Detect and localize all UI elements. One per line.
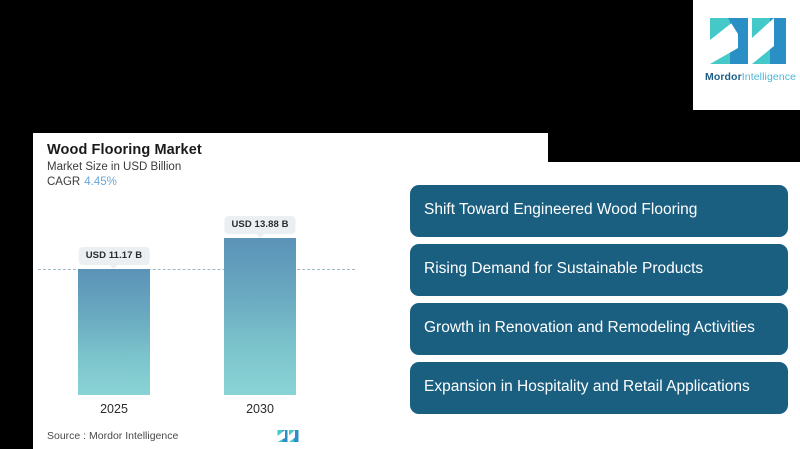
driver-item-3[interactable]: Growth in Renovation and Remodeling Acti… — [410, 303, 788, 355]
bar-value-label-2030: USD 13.88 B — [224, 216, 295, 234]
driver-item-1[interactable]: Shift Toward Engineered Wood Flooring — [410, 185, 788, 237]
driver-label: Shift Toward Engineered Wood Flooring — [424, 200, 697, 220]
mordor-intelligence-mark-icon — [277, 429, 299, 443]
brand-name-part1: Mordor — [705, 71, 742, 83]
bar-value-label-2025: USD 11.17 B — [79, 247, 150, 265]
bar-chart-plot: USD 11.17 B 2025 USD 13.88 B 2030 — [33, 195, 373, 449]
source-name: Mordor Intelligence — [89, 430, 178, 442]
cagr-row: CAGR4.45% — [47, 176, 117, 188]
source-attribution: Source : Mordor Intelligence — [47, 430, 178, 442]
driver-label: Rising Demand for Sustainable Products — [424, 259, 703, 279]
brand-name-part2: Intelligence — [742, 71, 796, 83]
driver-label: Growth in Renovation and Remodeling Acti… — [424, 318, 755, 338]
driver-item-2[interactable]: Rising Demand for Sustainable Products — [410, 244, 788, 296]
brand-logo-text: MordorIntelligence — [705, 71, 791, 83]
bar-2030 — [224, 238, 296, 395]
chart-subtitle: Market Size in USD Billion — [47, 161, 181, 173]
driver-item-4[interactable]: Expansion in Hospitality and Retail Appl… — [410, 362, 788, 414]
driver-label: Expansion in Hospitality and Retail Appl… — [424, 377, 750, 397]
chart-title: Wood Flooring Market — [47, 142, 202, 158]
brand-logo: MordorIntelligence — [705, 14, 791, 90]
bar-2025 — [78, 269, 150, 395]
x-axis-label-2025: 2025 — [74, 402, 154, 416]
market-drivers-list: Shift Toward Engineered Wood Flooring Ri… — [410, 185, 788, 414]
mordor-intelligence-logo-icon — [708, 14, 788, 68]
infographic-canvas: MordorIntelligence Wood Flooring Market … — [0, 0, 800, 449]
x-axis-label-2030: 2030 — [220, 402, 300, 416]
cagr-label: CAGR — [47, 176, 80, 188]
source-label: Source : — [47, 430, 86, 442]
cagr-value: 4.45% — [84, 176, 117, 188]
